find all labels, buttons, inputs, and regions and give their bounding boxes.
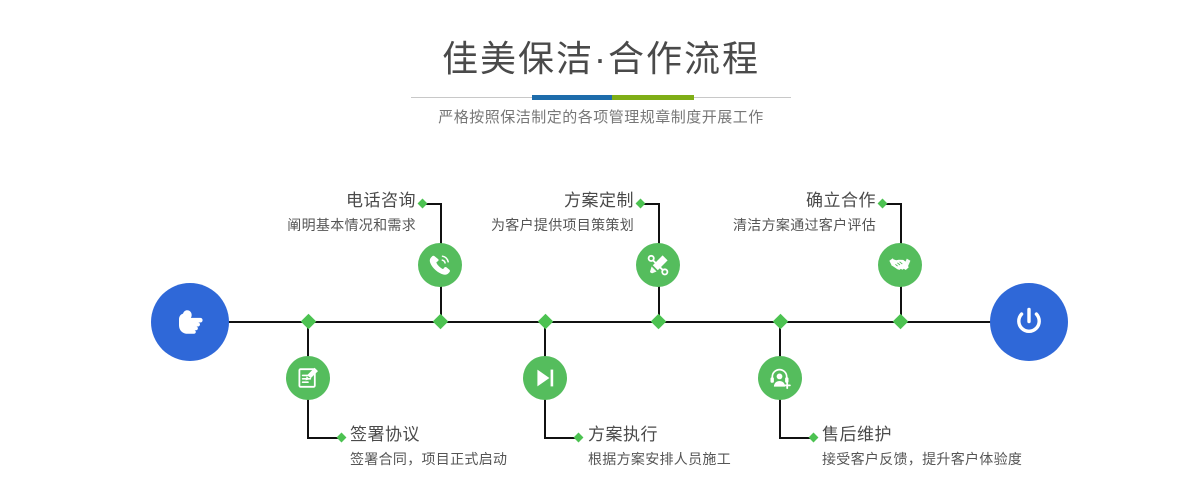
phone-call-icon <box>427 252 453 278</box>
step-node-2[interactable] <box>286 356 330 400</box>
label-marker-step-5 <box>878 199 888 209</box>
step-label-6: 售后维护 接受客户反馈，提升客户体验度 <box>822 424 1152 470</box>
step-title-5: 确立合作 <box>580 190 876 212</box>
step-node-5[interactable] <box>878 243 922 287</box>
pointing-hand-icon <box>170 302 210 342</box>
process-flow-infographic: 佳美保洁·合作流程 严格按照保洁制定的各项管理规章制度开展工作 <box>0 0 1202 502</box>
step-desc-5: 清洁方案通过客户评估 <box>580 214 876 236</box>
page-title: 佳美保洁·合作流程 <box>0 36 1202 82</box>
step-label-5: 确立合作 清洁方案通过客户评估 <box>580 190 876 236</box>
axis-marker-3 <box>538 314 554 330</box>
handshake-icon <box>887 252 913 278</box>
axis-marker-5 <box>773 314 789 330</box>
play-forward-icon <box>532 365 558 391</box>
page-subtitle: 严格按照保洁制定的各项管理规章制度开展工作 <box>0 107 1202 129</box>
timeline-axis <box>160 321 1042 323</box>
title-divider <box>411 95 791 101</box>
axis-marker-2 <box>433 314 449 330</box>
step-desc-6: 接受客户反馈，提升客户体验度 <box>822 448 1152 470</box>
timeline-start-node <box>151 283 229 361</box>
axis-marker-1 <box>301 314 317 330</box>
step-node-1[interactable] <box>418 243 462 287</box>
pencil-design-icon <box>645 252 671 278</box>
customer-service-add-icon <box>767 365 793 391</box>
label-marker-step-2 <box>337 433 347 443</box>
step-node-3[interactable] <box>636 243 680 287</box>
document-edit-icon <box>295 365 321 391</box>
power-icon <box>1008 301 1050 343</box>
divider-segment-green <box>612 95 694 100</box>
step-title-6: 售后维护 <box>822 424 1152 446</box>
divider-segment-blue <box>532 95 612 100</box>
step-node-4[interactable] <box>523 356 567 400</box>
axis-marker-4 <box>651 314 667 330</box>
timeline-end-node <box>990 283 1068 361</box>
axis-marker-6 <box>893 314 909 330</box>
step-node-6[interactable] <box>758 356 802 400</box>
